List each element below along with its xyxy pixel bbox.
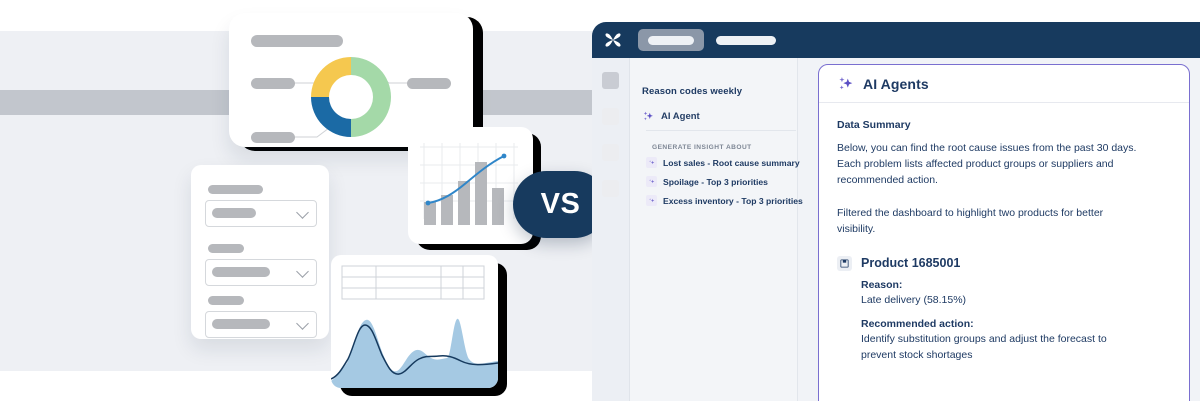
- illustration-stage: VS Rea: [0, 0, 1200, 401]
- butterfly-logo-svg: [603, 30, 623, 50]
- select-field-2[interactable]: [205, 259, 317, 286]
- nav-item-excess-inventory[interactable]: Excess inventory - Top 3 priorities: [646, 195, 803, 206]
- rail-item-1[interactable]: [602, 72, 619, 89]
- detail-spacer: [861, 308, 1171, 317]
- area-series-fill: [331, 319, 498, 388]
- sparkle-icon: [837, 75, 855, 93]
- icon-rail: [592, 58, 630, 401]
- topbar-tab-active-label: [648, 36, 694, 45]
- product-box-icon: [837, 256, 852, 271]
- select-field-1[interactable]: [205, 200, 317, 227]
- nav-item-spoilage-label: Spoilage - Top 3 priorities: [663, 177, 768, 187]
- nav-section-kicker: GENERATE INSIGHT ABOUT: [652, 144, 752, 151]
- recommended-action-value: Identify substitution groups and adjust …: [861, 332, 1141, 362]
- nav-title: Reason codes weekly: [642, 86, 792, 97]
- select-value-3: [212, 319, 270, 329]
- nav-item-ai-agent-label: AI Agent: [661, 111, 700, 122]
- app-topbar: [592, 22, 1200, 58]
- chevron-down-icon: [296, 317, 309, 330]
- sparkle-icon: [646, 176, 657, 187]
- sparkle-icon: [646, 157, 657, 168]
- filters-form-card: [191, 165, 329, 339]
- ai-agents-panel-header: AI Agents: [819, 65, 1189, 103]
- topbar-tab-active[interactable]: [638, 29, 704, 51]
- field-label-1: [208, 185, 263, 194]
- data-summary-heading: Data Summary: [837, 119, 1171, 131]
- rail-item-2[interactable]: [602, 108, 619, 125]
- select-value-2: [212, 267, 270, 277]
- chevron-down-icon: [296, 265, 309, 278]
- ai-agents-panel: AI Agents Data Summary Below, you can fi…: [818, 64, 1190, 401]
- ai-agents-panel-body: Data Summary Below, you can find the roo…: [819, 103, 1189, 363]
- sparkle-icon: [646, 195, 657, 206]
- chevron-down-icon: [296, 206, 309, 219]
- app-window: Reason codes weekly AI Agent GENERATE IN…: [592, 22, 1200, 401]
- table-area-chart-card: [331, 255, 498, 388]
- select-field-3[interactable]: [205, 311, 317, 338]
- topbar-tab-secondary-label: [716, 36, 776, 45]
- rail-item-3[interactable]: [602, 144, 619, 161]
- butterfly-logo-icon[interactable]: [592, 30, 634, 50]
- product-details: Reason: Late delivery (58.15%) Recommend…: [861, 278, 1171, 363]
- filter-note: Filtered the dashboard to highlight two …: [837, 206, 1137, 238]
- topbar-tab-secondary[interactable]: [716, 29, 776, 51]
- bar-line-chart-svg: [408, 127, 533, 244]
- nav-item-spoilage[interactable]: Spoilage - Top 3 priorities: [646, 176, 768, 187]
- reason-value: Late delivery (58.15%): [861, 293, 1141, 308]
- recommended-action-label: Recommended action:: [861, 317, 1171, 332]
- reason-label: Reason:: [861, 278, 1171, 293]
- nav-divider: [646, 130, 796, 131]
- nav-item-ai-agent[interactable]: AI Agent: [642, 110, 700, 123]
- rail-item-4[interactable]: [602, 180, 619, 197]
- product-row[interactable]: Product 1685001: [837, 256, 1171, 271]
- sparkle-icon: [642, 110, 655, 123]
- nav-item-lost-sales-label: Lost sales - Root cause summary: [663, 158, 800, 168]
- product-name: Product 1685001: [861, 256, 960, 270]
- nav-item-lost-sales[interactable]: Lost sales - Root cause summary: [646, 157, 800, 168]
- field-label-2: [208, 244, 244, 253]
- nav-item-excess-inventory-label: Excess inventory - Top 3 priorities: [663, 196, 803, 206]
- bar-line-chart-card: [408, 127, 533, 244]
- select-value-1: [212, 208, 256, 218]
- area-chart-svg: [331, 255, 498, 388]
- field-label-3: [208, 296, 244, 305]
- ai-agents-panel-title: AI Agents: [863, 76, 929, 92]
- vs-label: VS: [541, 188, 581, 221]
- data-summary-paragraph: Below, you can find the root cause issue…: [837, 141, 1137, 188]
- nav-column: Reason codes weekly AI Agent GENERATE IN…: [630, 58, 798, 401]
